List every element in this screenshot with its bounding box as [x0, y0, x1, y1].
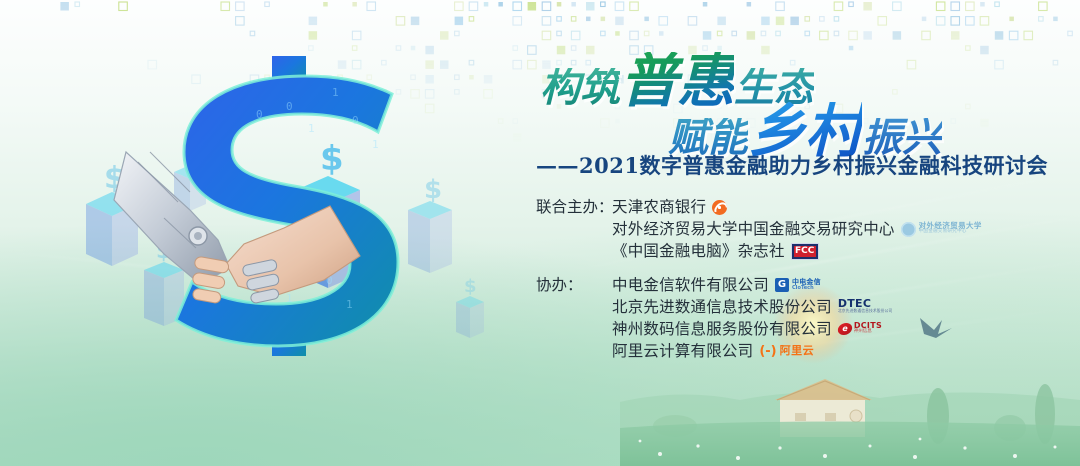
dtec-logo-sub: 北京先进数通信息技术股份公司	[838, 307, 893, 314]
coorg-name-4: 阿里云计算有限公司	[612, 340, 753, 362]
ciotech-logo-en: CIoTech	[792, 285, 821, 292]
coorganizer-block: 协办： 中电金信软件有限公司 G 中电金信 CIoTech 北京先进数通信息技术…	[536, 274, 966, 362]
credits-spacer	[536, 262, 966, 274]
host-row-3: 《中国金融电脑》杂志社 FCC	[536, 240, 966, 262]
dcits-swoosh-icon: e	[837, 323, 854, 335]
fcc-logo: FCC	[791, 243, 819, 260]
fcc-logo-text: FCC	[794, 246, 816, 257]
ciotech-logo: G 中电金信 CIoTech	[775, 278, 821, 292]
host-name-3: 《中国金融电脑》杂志社	[612, 240, 785, 262]
coorg-name-3: 神州数码信息服务股份有限公司	[612, 318, 832, 340]
subtitle: ——2021数字普惠金融助力乡村振兴金融科技研讨会	[536, 150, 1048, 180]
svg-text:$: $	[424, 175, 442, 205]
coorg-row-3: 神州数码信息服务股份有限公司 e DCITS 神州信息	[536, 318, 966, 340]
svg-text:0: 0	[286, 100, 293, 113]
svg-text:1: 1	[332, 86, 339, 99]
svg-text:$: $	[320, 139, 344, 179]
host-label: 联合主办：	[536, 196, 612, 218]
uibe-logo: 对外经济贸易大学 中国金融交易研究中心	[901, 222, 982, 237]
host-name-1: 天津农商银行	[612, 196, 706, 218]
svg-text:$: $	[464, 276, 477, 297]
dollar-handshake-illustration: $ $ $	[78, 52, 498, 382]
dcits-logo-sub: 神州信息	[854, 329, 882, 336]
coorg-row-1: 协办： 中电金信软件有限公司 G 中电金信 CIoTech	[536, 274, 966, 296]
headline-seg-1: 构筑	[540, 68, 620, 108]
uibe-seal-icon	[901, 222, 916, 237]
aliyun-logo-text: 阿里云	[780, 340, 815, 362]
host-block: 联合主办： 天津农商银行 对外经济贸易大学中国金融交易研究中心 对外经济贸易大学…	[536, 196, 966, 262]
dtec-logo-text: DTEC	[838, 300, 871, 307]
host-name-2: 对外经济贸易大学中国金融交易研究中心	[612, 218, 895, 240]
ciotech-mark-icon: G	[775, 278, 789, 292]
trcb-spiral-logo	[712, 200, 727, 215]
coorganizer-label: 协办：	[536, 274, 612, 296]
coorg-name-1: 中电金信软件有限公司	[612, 274, 769, 296]
dollar-sign-shape: 01 10 01 01 10	[176, 56, 398, 356]
uibe-logo-sub: 中国金融交易研究中心	[919, 229, 982, 235]
svg-text:0: 0	[352, 114, 359, 127]
host-row-2: 对外经济贸易大学中国金融交易研究中心 对外经济贸易大学 中国金融交易研究中心	[536, 218, 966, 240]
promo-banner: $ $ $	[0, 0, 1080, 466]
coorg-row-2: 北京先进数通信息技术股份公司 DTEC 北京先进数通信息技术股份公司	[536, 296, 966, 318]
coorg-name-2: 北京先进数通信息技术股份公司	[612, 296, 832, 318]
svg-text:1: 1	[346, 298, 353, 311]
svg-text:1: 1	[308, 122, 315, 135]
credits-block: 联合主办： 天津农商银行 对外经济贸易大学中国金融交易研究中心 对外经济贸易大学…	[536, 196, 966, 362]
host-row-1: 联合主办： 天津农商银行	[536, 196, 966, 218]
aliyun-logo: (-) 阿里云	[759, 340, 814, 362]
svg-text:1: 1	[372, 138, 379, 151]
svg-text:1: 1	[286, 292, 293, 305]
aliyun-bracket-icon: (-)	[759, 345, 776, 358]
svg-text:0: 0	[256, 108, 263, 121]
dcits-logo: e DCITS 神州信息	[838, 323, 882, 336]
dtec-logo: DTEC 北京先进数通信息技术股份公司	[838, 300, 893, 314]
coorg-row-4: 阿里云计算有限公司 (-) 阿里云	[536, 340, 966, 362]
